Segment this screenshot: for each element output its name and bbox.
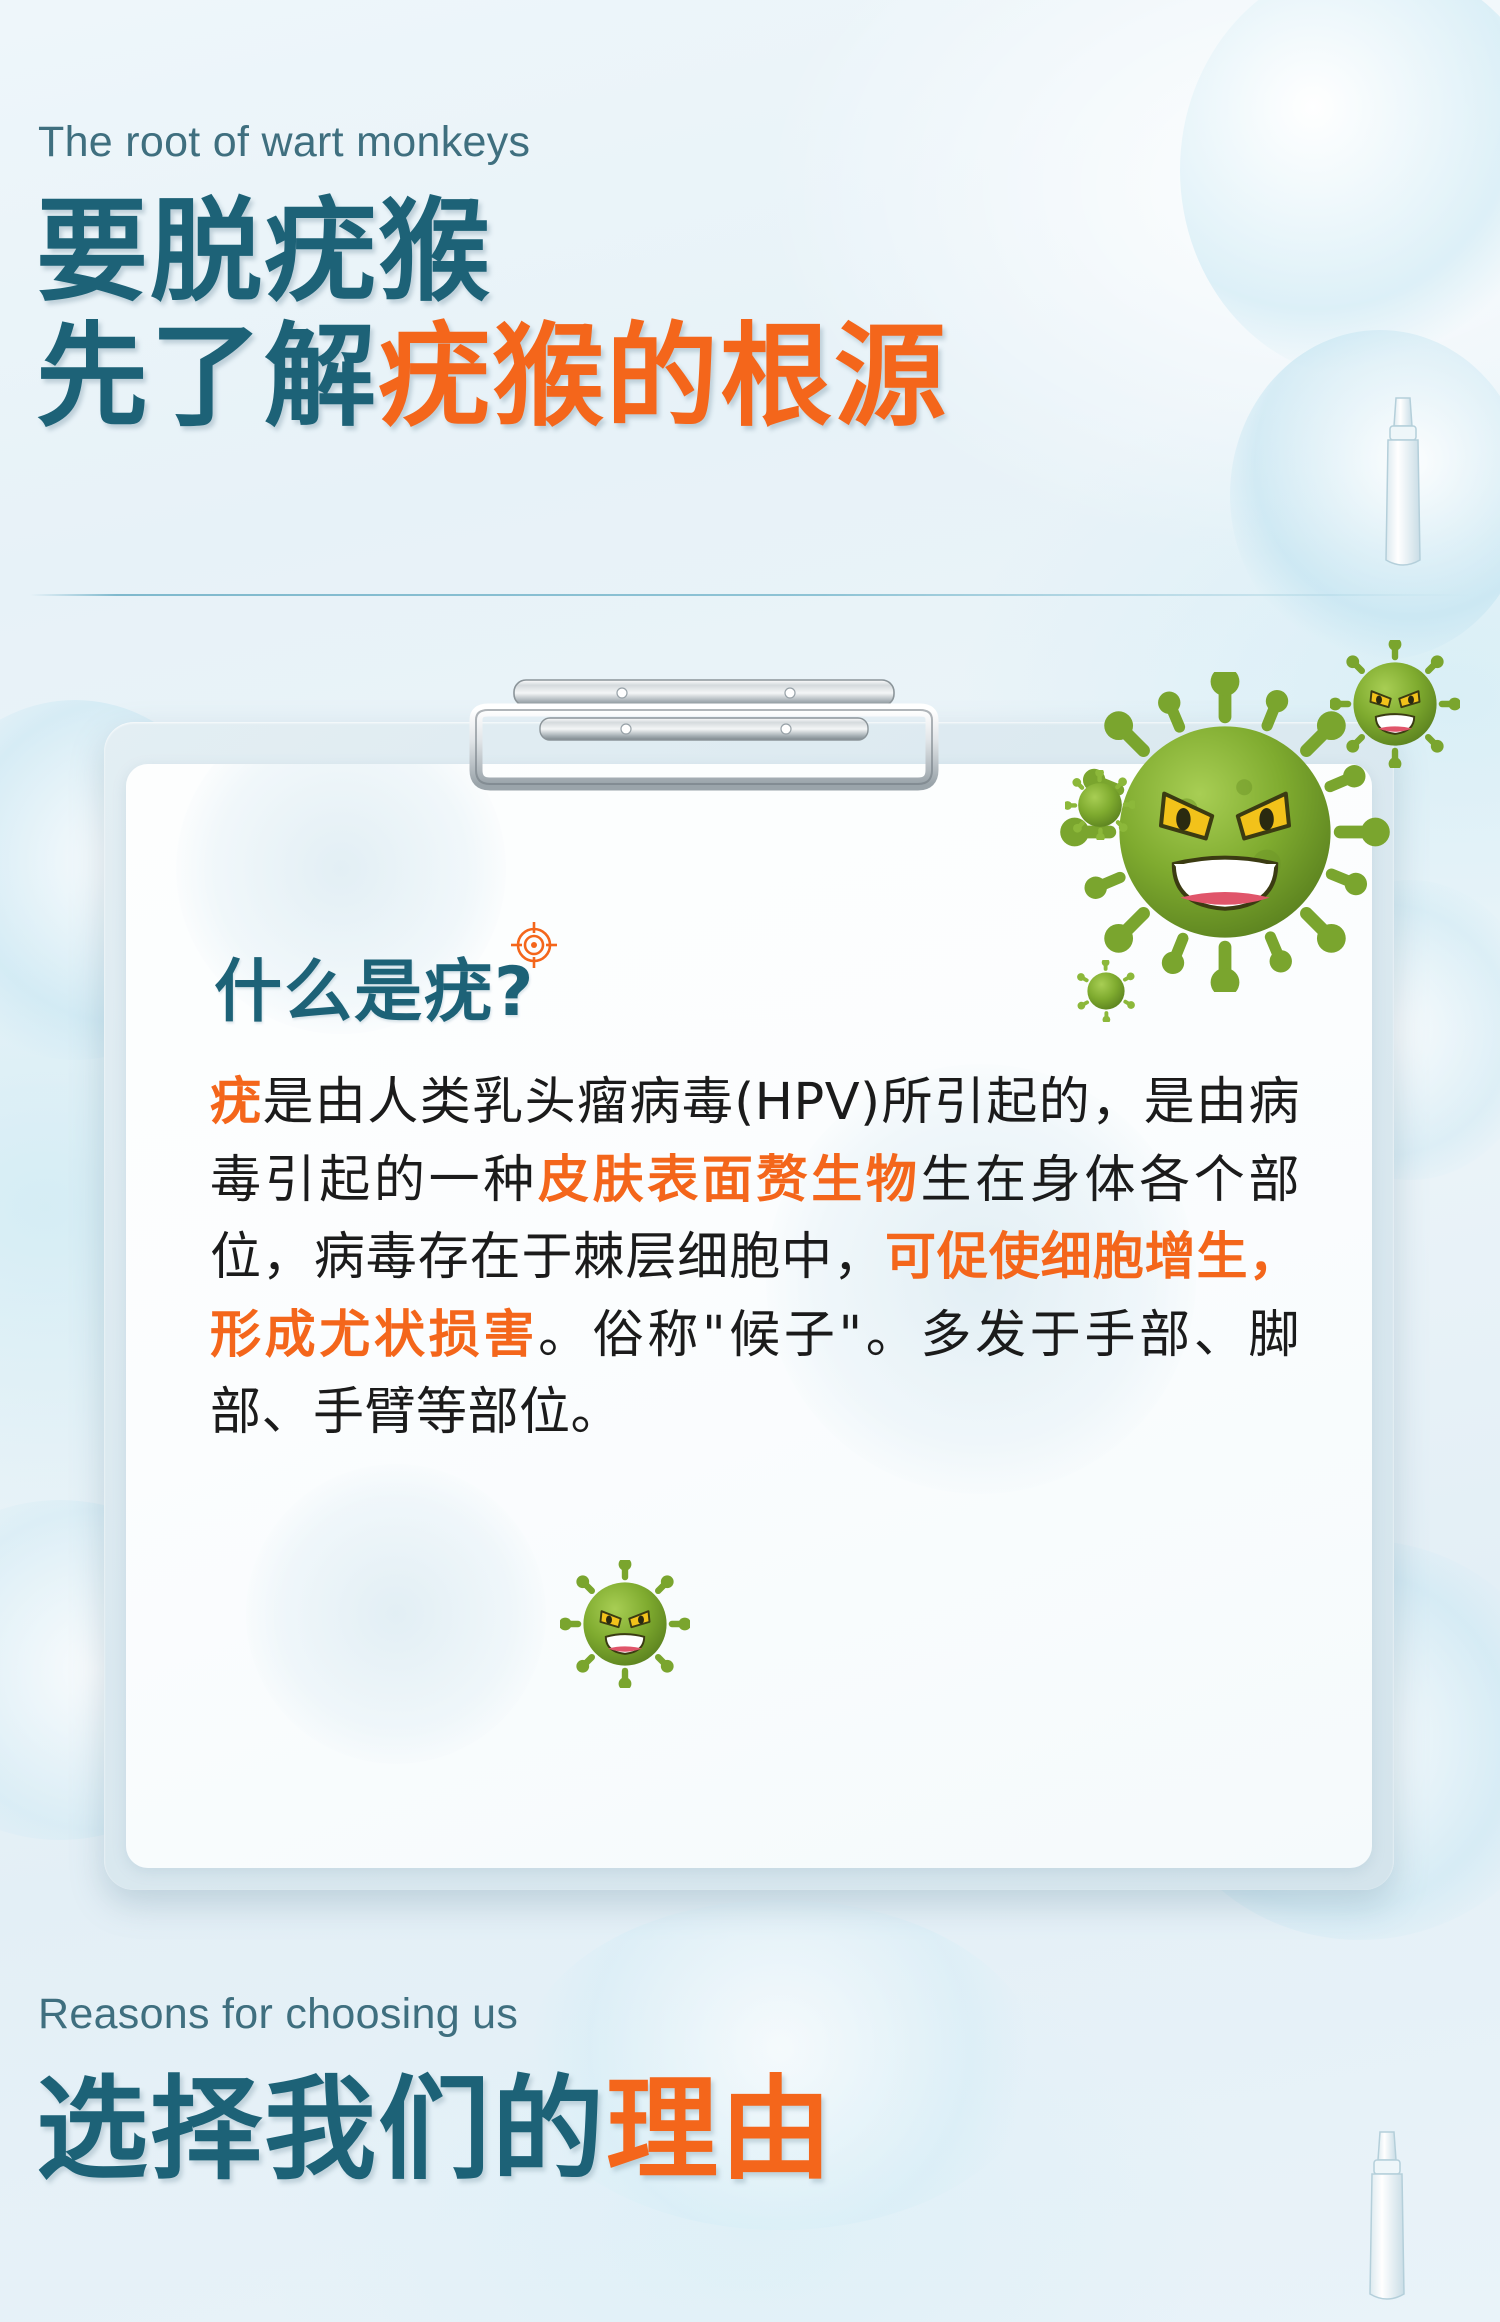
clipboard-sheet: 什么是疣? 疣是由人类乳头瘤病毒(HPV)所引起的，是由病毒引起的一种皮肤表面赘… (126, 764, 1372, 1868)
headline-accent: 疣猴的根源 (378, 312, 948, 442)
footer-title: 选择我们的理由 (36, 2068, 834, 2193)
header-eyebrow: The root of wart monkeys (38, 118, 530, 167)
clipboard-board: 什么是疣? 疣是由人类乳头瘤病毒(HPV)所引起的，是由病毒引起的一种皮肤表面赘… (104, 722, 1394, 1890)
page-title: 要脱疣猴 先了解疣猴的根源 (36, 190, 948, 441)
headline-line-1: 要脱疣猴 (36, 190, 948, 315)
virus-watermark (246, 1464, 546, 1764)
headline-line-2: 先了解疣猴的根源 (36, 315, 948, 440)
footer-title-accent: 理由 (606, 2065, 834, 2195)
clipboard-clip-icon (454, 674, 954, 804)
card-title: 什么是疣? (214, 936, 535, 1035)
footer-title-teal: 选择我们的 (36, 2065, 606, 2195)
ointment-tube-icon (1368, 392, 1438, 572)
body-seg-2: 皮肤表面赘生物 (538, 1151, 921, 1210)
header-divider (30, 594, 1470, 596)
water-bubble-decoration (1180, 0, 1500, 380)
card-body-text: 疣是由人类乳头瘤病毒(HPV)所引起的，是由病毒引起的一种皮肤表面赘生物生在身体… (210, 1064, 1300, 1452)
poster-root: The root of wart monkeys 要脱疣猴 先了解疣猴的根源 (0, 0, 1500, 2322)
water-bubble-decoration (1230, 330, 1500, 660)
clipboard-panel: 什么是疣? 疣是由人类乳头瘤病毒(HPV)所引起的，是由病毒引起的一种皮肤表面赘… (104, 700, 1394, 1890)
ointment-tube-icon (1352, 2126, 1422, 2306)
footer-eyebrow: Reasons for choosing us (38, 1990, 518, 2039)
target-crosshair-icon (511, 922, 557, 968)
body-seg-0: 疣 (210, 1073, 262, 1132)
